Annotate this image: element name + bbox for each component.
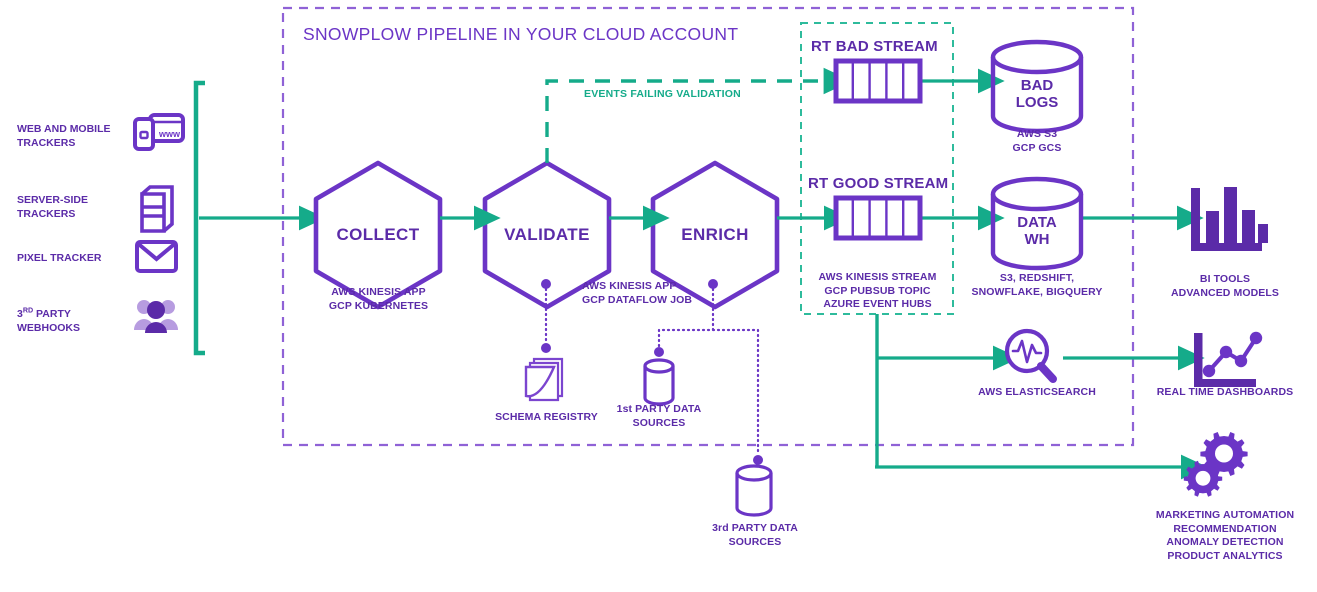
gears-icon	[1184, 432, 1248, 497]
stage-sub-validate: AWS KINESIS APP GCP DATAFLOW JOB	[582, 280, 752, 307]
flow-label-events-failing-validation: EVENTS FAILING VALIDATION	[584, 88, 741, 100]
attachment-label-schema-registry: SCHEMA REGISTRY	[480, 411, 613, 425]
dot-third-party-anchor	[753, 455, 763, 465]
architecture-diagram: www SNOWPLOW PIP	[0, 0, 1317, 592]
mobile-web-icon: www	[135, 115, 183, 149]
attachment-label-first-party-data-sources: 1st PARTY DATA SOURCES	[609, 403, 709, 430]
line-chart-icon	[1194, 332, 1262, 387]
envelope-icon	[137, 242, 176, 271]
svg-text:www: www	[158, 129, 181, 139]
attachment-label-third-party-data-sources: 3rd PARTY DATA SOURCES	[702, 522, 808, 549]
stream-box-good	[836, 198, 920, 238]
server-icon	[142, 187, 172, 231]
bar-chart-icon	[1191, 187, 1268, 251]
stream-box-bad	[836, 61, 920, 101]
consumer-label-aws-elasticsearch: AWS ELASTICSEARCH	[962, 386, 1112, 400]
stage-sub-collect: AWS KINESIS APP GCP KUBERNETES	[306, 286, 451, 313]
dot-schema-registry-anchor	[541, 343, 551, 353]
store-sub-bad-logs: AWS S3 GCP GCS	[975, 128, 1099, 155]
third-party-webhooks-text: 3RD PARTYWEBHOOKS	[17, 308, 80, 334]
stage-label-enrich: ENRICH	[653, 225, 777, 245]
page-title: SNOWPLOW PIPELINE IN YOUR CLOUD ACCOUNT	[303, 24, 738, 45]
stream-sub-good: AWS KINESIS STREAM GCP PUBSUB TOPIC AZUR…	[806, 271, 949, 312]
source-label-third-party-webhooks: 3RD PARTYWEBHOOKS	[17, 303, 127, 335]
cylinder-first-party	[645, 360, 673, 404]
wire-enrich-to-data-sources	[659, 289, 758, 455]
consumer-label-bi-tools: BI TOOLS ADVANCED MODELS	[1152, 273, 1298, 300]
store-label-data-wh: DATA WH	[990, 214, 1084, 248]
store-sub-data-wh: S3, REDSHIFT, SNOWFLAKE, BIGQUERY	[962, 272, 1112, 299]
stage-label-validate: VALIDATE	[485, 225, 609, 245]
source-label-server-side-trackers: SERVER-SIDE TRACKERS	[17, 193, 127, 221]
people-icon	[134, 300, 178, 333]
stream-title-bad: RT BAD STREAM	[811, 38, 938, 55]
store-label-bad-logs: BAD LOGS	[990, 77, 1084, 111]
search-pulse-icon	[1007, 331, 1053, 379]
stream-title-good: RT GOOD STREAM	[808, 175, 948, 192]
dot-validate-anchor	[541, 279, 551, 289]
source-label-web-mobile-trackers: WEB AND MOBILE TRACKERS	[17, 122, 127, 150]
consumer-label-activation: MARKETING AUTOMATION RECOMMENDATION ANOM…	[1143, 509, 1307, 563]
dot-first-party-anchor	[654, 347, 664, 357]
cylinder-third-party	[737, 466, 771, 515]
consumer-label-real-time-dashboards: REAL TIME DASHBOARDS	[1145, 386, 1305, 400]
stage-label-collect: COLLECT	[316, 225, 440, 245]
source-label-pixel-tracker: PIXEL TRACKER	[17, 251, 137, 265]
sources-bracket	[196, 83, 205, 353]
documents-stack-icon	[526, 359, 562, 400]
